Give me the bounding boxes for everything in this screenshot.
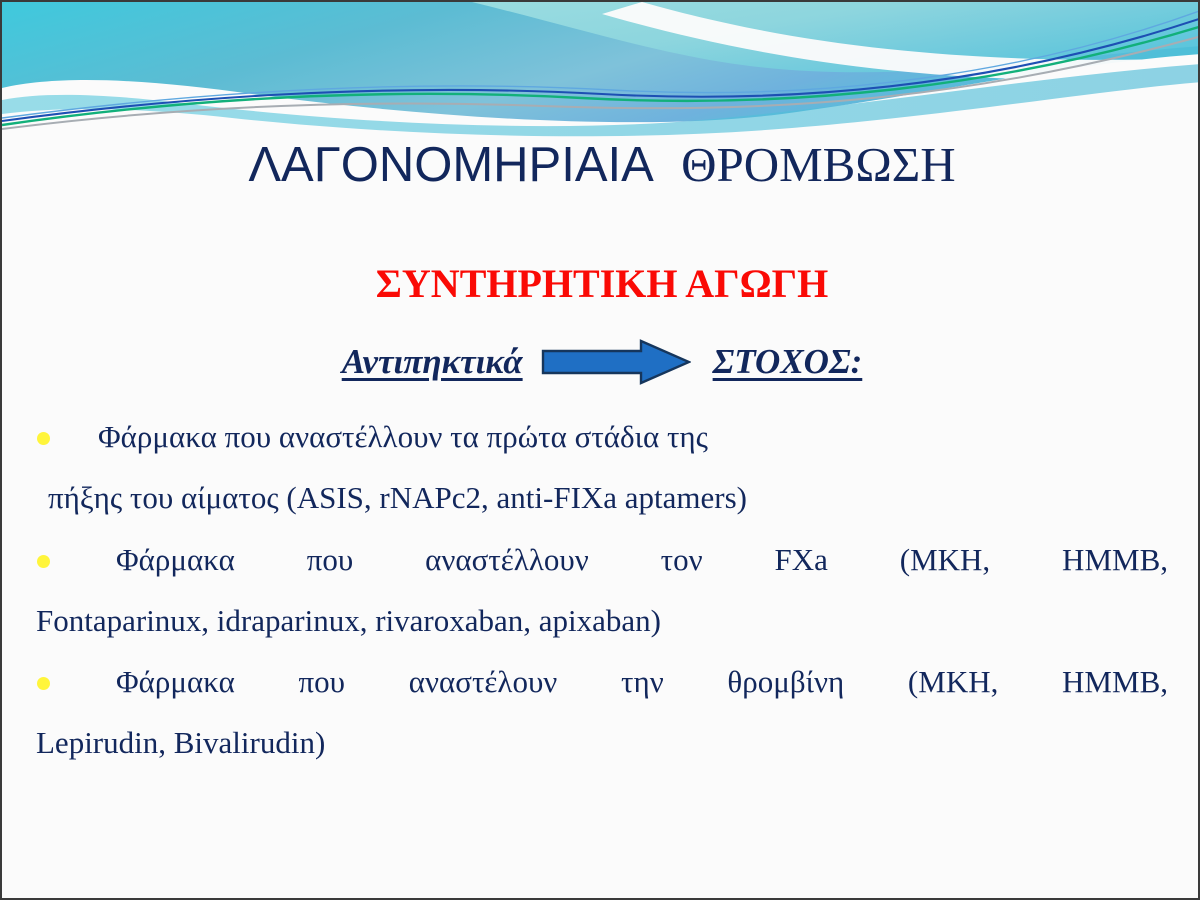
slide-title: ΛΑΓΟΝΟΜΗΡΙΑΙΑ ΘΡΟΜΒΩΣΗ	[2, 136, 1200, 193]
yellow-dot-icon	[37, 677, 50, 690]
arrow-left-label: Αντιπηκτικά	[342, 342, 523, 382]
list-item-line-2: πήξης του αίματος (ASIS, rNAPc2, anti-FI…	[48, 480, 747, 515]
list-item-line-1: Φάρμακα που αναστέλλουν τον FXa (ΜΚΗ, ΗΜ…	[98, 529, 1168, 590]
slide-title-part-1: ΛΑΓΟΝΟΜΗΡΙΑΙΑ	[248, 138, 654, 192]
slide-title-spacer	[654, 138, 681, 192]
slide-title-part-2: ΘΡΟΜΒΩΣΗ	[681, 137, 956, 192]
arrow-right-label: ΣΤΟΧΟΣ:	[713, 342, 863, 382]
list-item: Φάρμακα που αναστέλλουν τον FXa (ΜΚΗ, ΗΜ…	[2, 529, 1200, 651]
list-item: Φάρμακα που αναστέλουν την θρομβίνη (ΜΚΗ…	[2, 651, 1200, 773]
slide-subtitle: ΣΥΝΤΗΡΗΤΙΚΗ ΑΓΩΓΗ	[2, 260, 1200, 307]
right-arrow-icon	[541, 338, 691, 386]
arrow-relation-row: Αντιπηκτικά ΣΤΟΧΟΣ:	[2, 338, 1200, 386]
list-item-line-2: Fontaparinux, idraparinux, rivaroxaban, …	[36, 590, 1168, 651]
decorative-wave-banner	[2, 2, 1200, 137]
bullet-list: Φάρμακα που αναστέλλουν τα πρώτα στάδια …	[2, 406, 1200, 773]
yellow-dot-icon	[37, 555, 50, 568]
list-item-line-2: Lepirudin, Bivalirudin)	[36, 712, 1168, 773]
list-item-line-1: Φάρμακα που αναστέλλουν τα πρώτα στάδια …	[98, 419, 708, 454]
presentation-slide: ΛΑΓΟΝΟΜΗΡΙΑΙΑ ΘΡΟΜΒΩΣΗ ΣΥΝΤΗΡΗΤΙΚΗ ΑΓΩΓΗ…	[0, 0, 1200, 900]
yellow-dot-icon	[37, 432, 50, 445]
list-item-continuation: πήξης του αίματος (ASIS, rNAPc2, anti-FI…	[2, 467, 1200, 529]
list-item: Φάρμακα που αναστέλλουν τα πρώτα στάδια …	[2, 406, 1200, 467]
list-item-line-1: Φάρμακα που αναστέλουν την θρομβίνη (ΜΚΗ…	[98, 651, 1168, 712]
